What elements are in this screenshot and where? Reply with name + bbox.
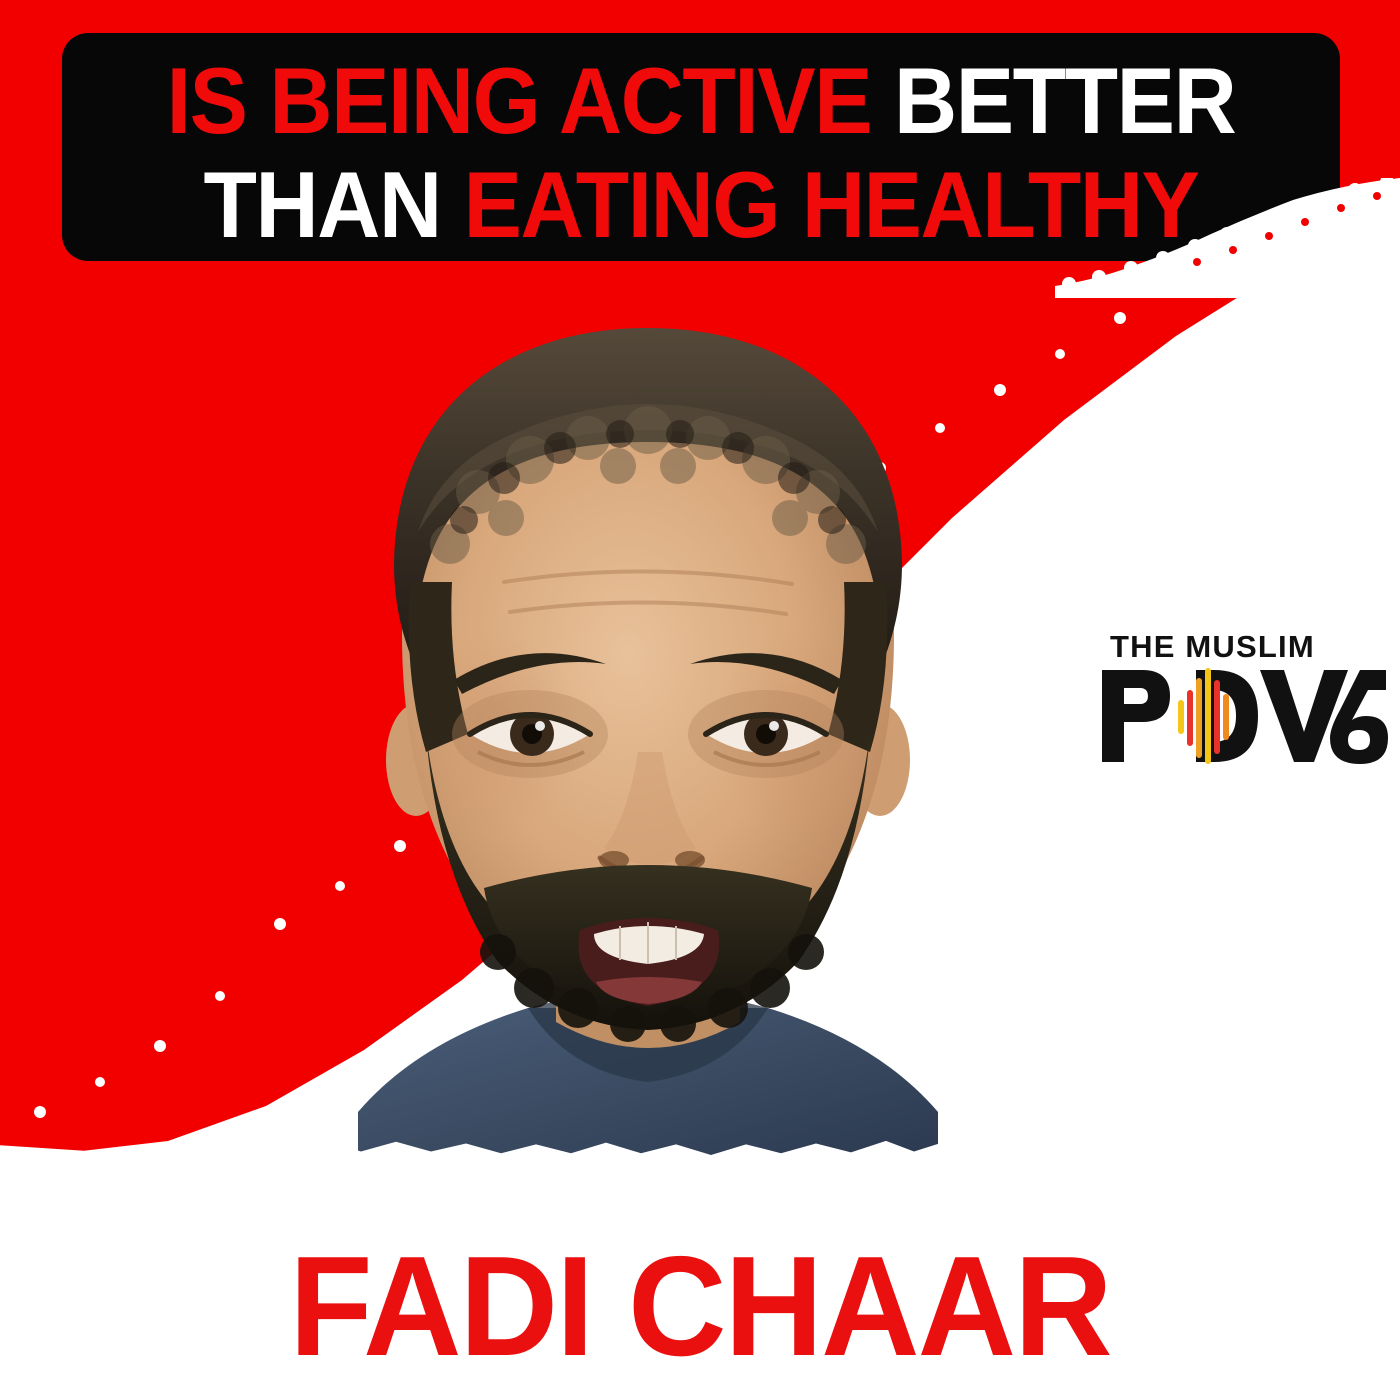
- episode-title-line-2: THAN EATING HEALTHY: [107, 157, 1296, 253]
- brand-logo: THE MUSLIM: [1098, 630, 1390, 770]
- logo-wordmark: [1098, 666, 1390, 766]
- episode-title-line-1: IS BEING ACTIVE BETTER: [107, 53, 1296, 149]
- title-segment-active: IS BEING ACTIVE: [167, 48, 894, 153]
- title-segment-better: BETTER: [894, 48, 1235, 153]
- logo-pov6-mark: [1098, 666, 1390, 766]
- title-segment-eating-healthy: EATING HEALTHY: [464, 152, 1199, 257]
- episode-title-bar: IS BEING ACTIVE BETTER THAN EATING HEALT…: [62, 33, 1340, 261]
- title-segment-than: THAN: [204, 152, 464, 257]
- podcast-episode-cover: IS BEING ACTIVE BETTER THAN EATING HEALT…: [0, 0, 1400, 1400]
- speaker-name: FADI CHAAR: [28, 1236, 1372, 1378]
- logo-top-text: THE MUSLIM: [1110, 630, 1390, 664]
- speaker-portrait: [298, 282, 998, 1162]
